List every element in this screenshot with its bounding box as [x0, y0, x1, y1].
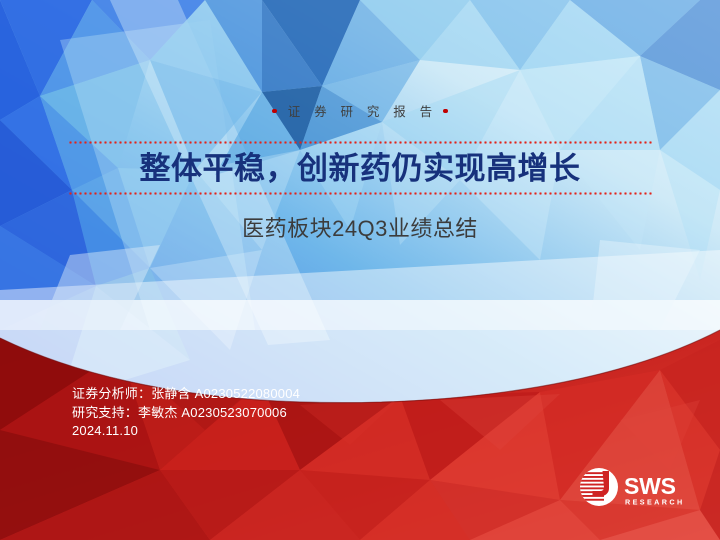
- analyst-credits: 证券分析师：张静含 A0230522080004 研究支持：李敏杰 A02305…: [72, 385, 300, 441]
- dotted-rule-below-title: [68, 192, 652, 195]
- page-title: 整体平稳，创新药仍实现高增长: [0, 148, 720, 190]
- slide-background: [0, 0, 720, 540]
- sws-research-logo: SWS RESEARCH: [578, 466, 690, 512]
- eyebrow-label: 证 券 研 究 报 告: [288, 106, 438, 119]
- blue-polygon-field: [0, 0, 720, 410]
- report-date: 2024.11.10: [72, 422, 300, 441]
- bullet-dot-left-icon: [272, 109, 277, 114]
- eyebrow: 证 券 研 究 报 告: [0, 104, 720, 120]
- analyst-name-line: 证券分析师：张静含 A0230522080004: [72, 385, 300, 404]
- logo-wordmark: SWS: [624, 473, 676, 499]
- presentation-title-slide: 证 券 研 究 报 告 整体平稳，创新药仍实现高增长 医药板块24Q3业绩总结 …: [0, 0, 720, 540]
- research-support-line: 研究支持：李敏杰 A0230523070006: [72, 404, 300, 423]
- bullet-dot-right-icon: [443, 109, 448, 114]
- logo-tagline: RESEARCH: [625, 498, 685, 507]
- page-subtitle: 医药板块24Q3业绩总结: [0, 213, 720, 245]
- dotted-rule-above-title: [68, 141, 652, 144]
